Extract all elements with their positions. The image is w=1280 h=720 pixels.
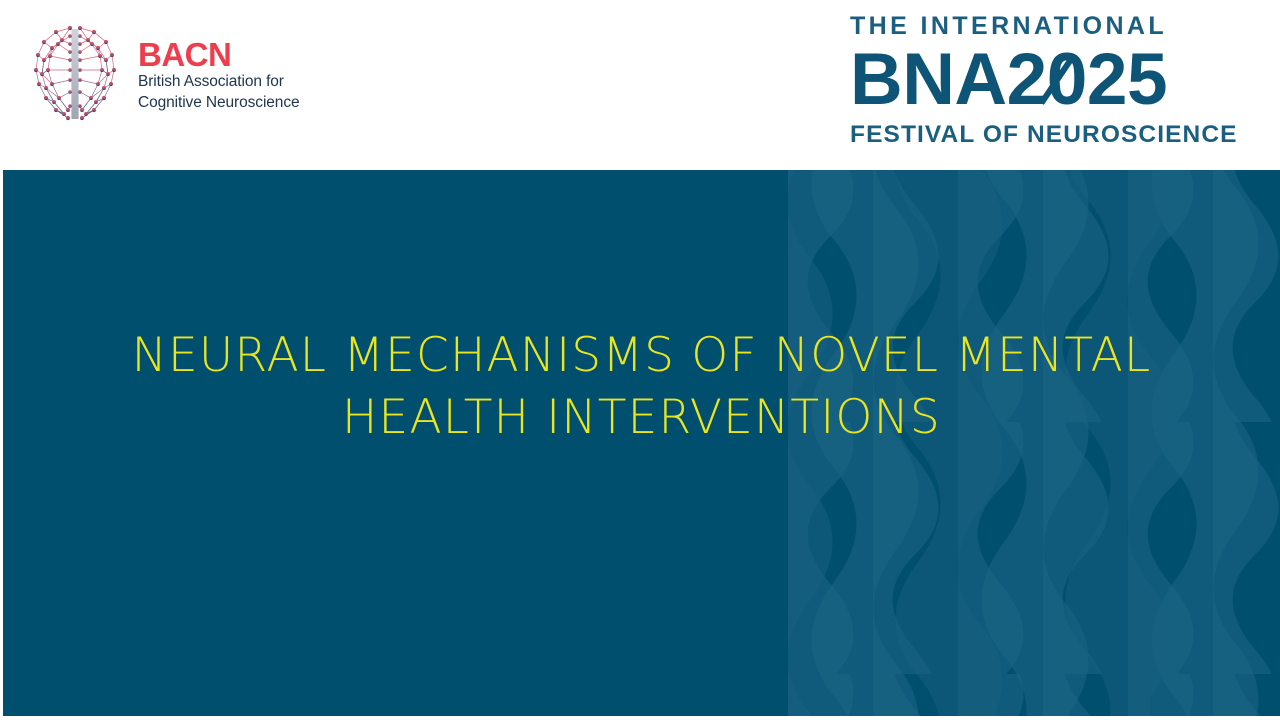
slide-header: BACN British Association for Cognitive N… bbox=[0, 0, 1280, 170]
bacn-subtitle-line-1: British Association for bbox=[138, 72, 300, 93]
bna-logo-main-line: BNA2025 bbox=[850, 42, 1225, 117]
bna-main-slashed-zero: 0 bbox=[1047, 42, 1087, 117]
bna-main-prefix: BNA2 bbox=[850, 42, 1047, 117]
slide-body bbox=[3, 170, 1280, 716]
bna-logo-bottom-line: FESTIVAL OF NEUROSCIENCE bbox=[850, 123, 1225, 148]
bacn-logo: BACN British Association for Cognitive N… bbox=[26, 22, 300, 130]
bacn-subtitle-line-2: Cognitive Neuroscience bbox=[138, 93, 300, 114]
bna-main-suffix: 25 bbox=[1087, 42, 1167, 117]
bna2025-logo: THE INTERNATIONAL BNA2025 FESTIVAL OF NE… bbox=[850, 14, 1225, 148]
decorative-bulb-pattern bbox=[788, 170, 1280, 716]
presentation-slide: NEURAL MECHANISMS OF NOVEL MENTAL HEALTH… bbox=[0, 0, 1280, 720]
bacn-wordmark: BACN bbox=[138, 38, 300, 73]
bna-logo-top-line: THE INTERNATIONAL bbox=[850, 14, 1225, 39]
brain-network-icon bbox=[26, 22, 124, 130]
bacn-text-block: BACN British Association for Cognitive N… bbox=[138, 38, 300, 114]
